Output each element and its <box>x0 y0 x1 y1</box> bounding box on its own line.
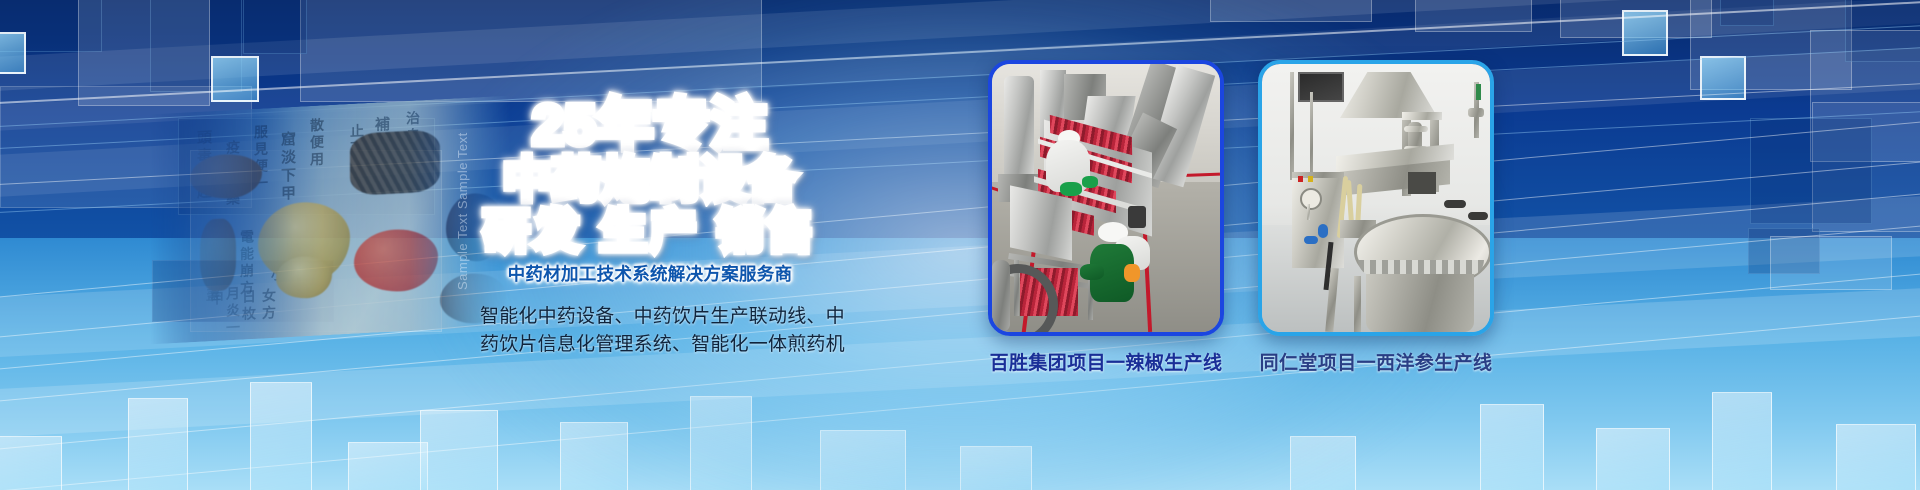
cabinet <box>1292 172 1344 268</box>
bg-glass-rect <box>0 436 62 490</box>
description-line-1: 智能化中药设备、中药饮片生产联动线、中 <box>480 303 820 332</box>
slogan-text: 中药材加工技术系统解决方案服务商 <box>480 261 820 286</box>
chili-production-photo <box>992 64 1220 332</box>
bg-glass-rect <box>1596 428 1670 490</box>
photo-caption-ginseng: 同仁堂项目一西洋参生产线 <box>1258 348 1494 375</box>
steel-column <box>1004 76 1034 178</box>
photo-frame <box>988 60 1224 336</box>
blue-fitting <box>1304 236 1318 244</box>
handwheel <box>1468 212 1488 220</box>
headline-line-2: 中药炮制设备 <box>480 156 820 206</box>
headline-line-3: 研发 生产 销售 <box>480 208 820 256</box>
bg-highlight-rect <box>211 56 259 102</box>
headline-line-1: 25年专注 <box>480 96 820 154</box>
support-rod <box>1290 72 1294 180</box>
steel-pipe-segment <box>992 260 1010 332</box>
photo-card-chili[interactable]: 百胜集团项目一辣椒生产线 <box>988 60 1224 375</box>
worker-glove <box>1060 182 1082 196</box>
bg-rect <box>243 0 307 54</box>
bg-glass-rect <box>1712 392 1772 490</box>
bg-glass-rect <box>1836 424 1916 490</box>
description-line-2: 药饮片信息化管理系统、智能化一体煎药机 <box>480 331 820 360</box>
waste-bin <box>1128 206 1146 228</box>
worker-glove <box>1082 176 1098 188</box>
steel-table <box>1010 185 1072 260</box>
worker-arm <box>1080 264 1104 280</box>
valve <box>1468 108 1484 117</box>
bg-glass-rect <box>420 410 498 490</box>
indicator-yellow <box>1308 176 1313 182</box>
handwheel <box>1444 200 1466 208</box>
indicator-red <box>1298 176 1303 182</box>
hood-crossbar <box>1402 112 1442 120</box>
vessel-body <box>1366 274 1474 332</box>
ginseng-production-photo <box>1262 64 1490 332</box>
worker-tool <box>1124 264 1140 282</box>
bg-glass-rect <box>348 442 428 490</box>
valve-green <box>1476 84 1481 100</box>
headline-block: 25年专注 中药炮制设备 研发 生产 销售 中药材加工技术系统解决方案服务商 智… <box>480 96 820 360</box>
photo-caption-chili: 百胜集团项目一辣椒生产线 <box>988 348 1224 375</box>
control-panel <box>1298 72 1344 102</box>
promo-banner: 頭毒初起 疫疽下藥 服見便一 窟淡下甲 散便用 止百 補陰丸 治自 服光血四甲 … <box>0 0 1920 490</box>
photo-card-ginseng[interactable]: 同仁堂项目一西洋参生产线 <box>1258 60 1494 375</box>
manifold-flange <box>1404 126 1428 132</box>
vessel-leg <box>1354 276 1361 332</box>
description-text: 智能化中药设备、中药饮片生产联动线、中 药饮片信息化管理系统、智能化一体煎药机 <box>480 303 820 360</box>
conveyor-opening <box>1408 172 1436 194</box>
bg-glass-rect <box>128 398 188 490</box>
watermark-text: Sample Text Sample Text <box>455 132 470 290</box>
blue-fitting <box>1318 224 1328 238</box>
pressure-gauge <box>1300 188 1322 210</box>
gauge-stem <box>1307 204 1310 220</box>
bg-highlight-rect <box>0 32 26 74</box>
bg-glass-rect <box>250 382 312 490</box>
photo-frame <box>1258 60 1494 336</box>
bg-glass-rect <box>1480 404 1544 490</box>
